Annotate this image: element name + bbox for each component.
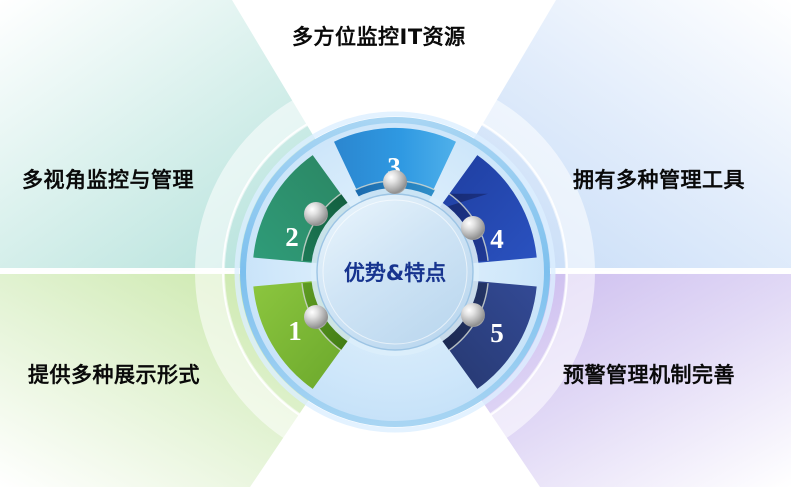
sphere-marker-5[interactable] <box>461 303 485 327</box>
segment-1-number: 1 <box>288 316 302 346</box>
segment-4-number: 4 <box>490 224 504 254</box>
center-title: 优势&特点 <box>344 261 446 285</box>
segment-5-number: 5 <box>490 318 504 348</box>
label-right-top: 拥有多种管理工具 <box>573 170 745 191</box>
label-top: 多方位监控IT资源 <box>292 27 466 48</box>
diagram-canvas: 1 2 3 4 5 <box>0 0 791 487</box>
label-left-top: 多视角监控与管理 <box>22 170 194 191</box>
wheel-diagram: 1 2 3 4 5 <box>0 0 791 487</box>
sphere-marker-2[interactable] <box>304 202 328 226</box>
label-right-bottom: 预警管理机制完善 <box>563 365 735 386</box>
sphere-marker-1[interactable] <box>304 305 328 329</box>
label-left-bottom: 提供多种展示形式 <box>28 365 200 386</box>
sphere-marker-3[interactable] <box>383 170 407 194</box>
segment-2-number: 2 <box>285 222 299 252</box>
sphere-marker-4[interactable] <box>461 216 485 240</box>
